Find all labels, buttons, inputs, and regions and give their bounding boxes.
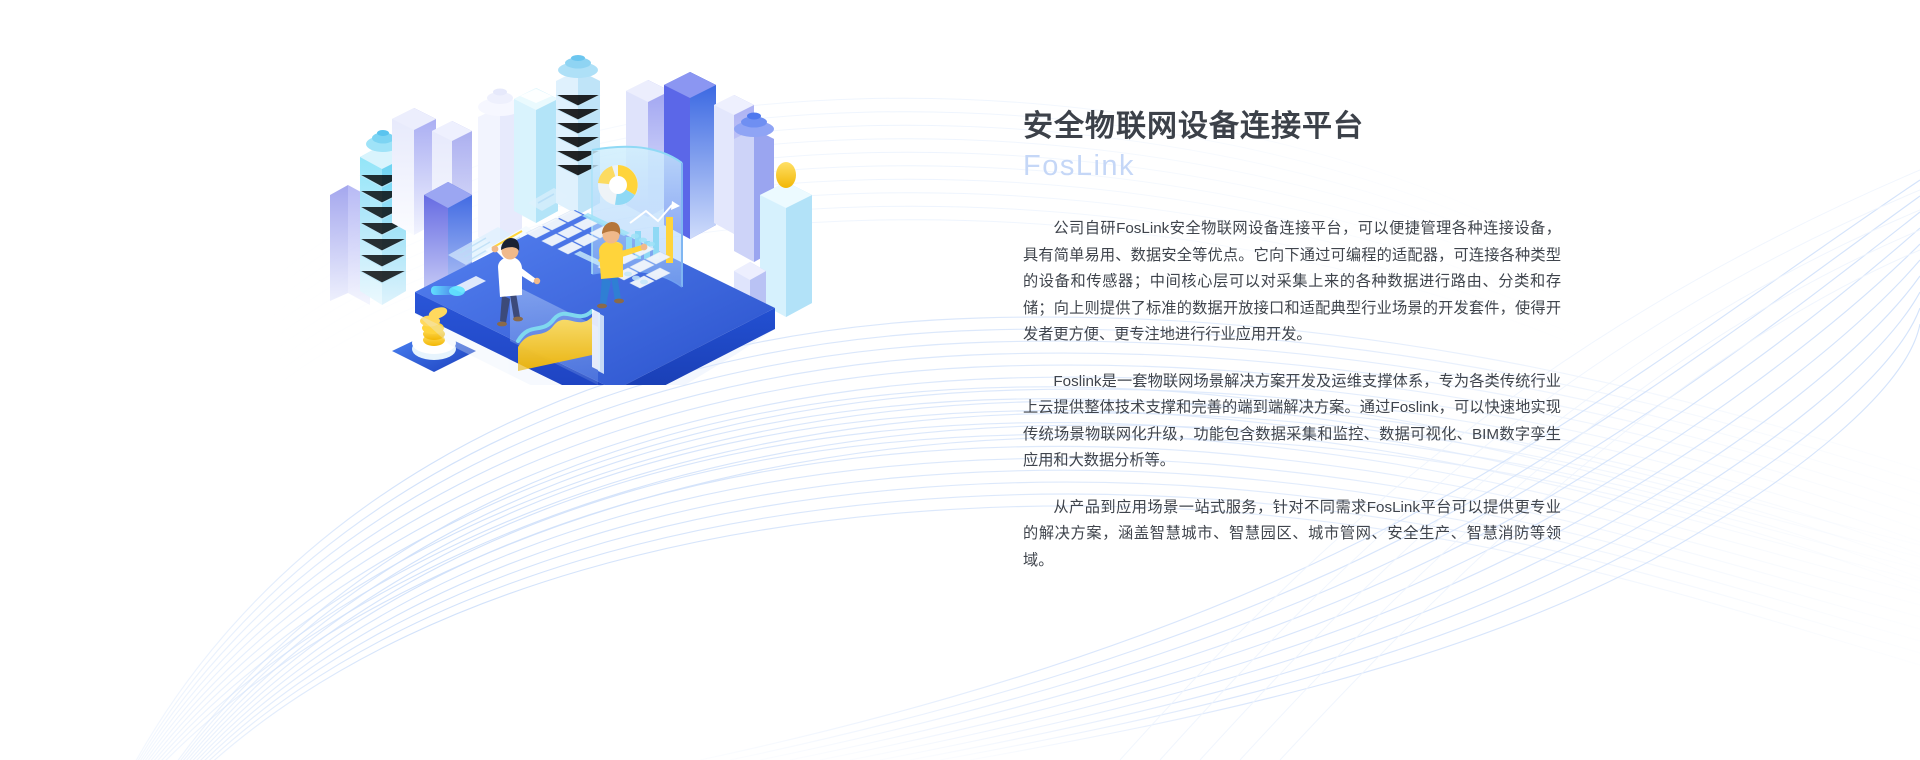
left-swirl-lines <box>95 387 1920 760</box>
product-name-subtitle: FosLink <box>1023 148 1561 186</box>
screen-donut-chart <box>598 165 638 205</box>
page-title: 安全物联网设备连接平台 <box>1023 108 1561 146</box>
paragraph-3: 从产品到应用场景一站式服务，针对不同需求FosLink平台可以提供更专业的解决方… <box>1023 495 1561 575</box>
paragraph-2: Foslink是一套物联网场景解决方案开发及运维支撑体系，专为各类传统行业上云提… <box>1023 369 1561 475</box>
hero-copy-column: 安全物联网设备连接平台 FosLink 公司自研FosLink安全物联网设备连接… <box>1023 108 1561 574</box>
paragraph-1: 公司自研FosLink安全物联网设备连接平台，可以便捷管理各种连接设备，具有简单… <box>1023 216 1561 349</box>
hero-illustration <box>330 55 830 385</box>
hero-body-copy: 公司自研FosLink安全物联网设备连接平台，可以便捷管理各种连接设备，具有简单… <box>1023 216 1561 574</box>
background-wave-decoration <box>0 0 1920 760</box>
page-root: 安全物联网设备连接平台 FosLink 公司自研FosLink安全物联网设备连接… <box>0 0 1920 760</box>
